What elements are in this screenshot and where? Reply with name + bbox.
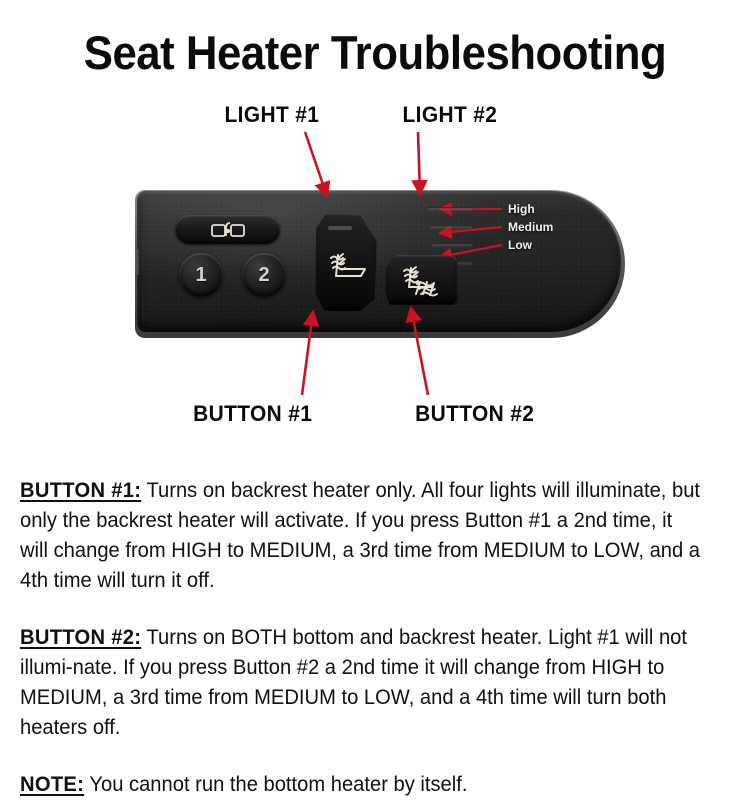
preset-button-2[interactable]: 2 [242,253,286,297]
level-label-high: High [508,202,535,216]
indicator-light-1 [427,207,473,212]
instruction-button-2: BUTTON #2: Turns on BOTH bottom and back… [20,623,705,743]
leader-light-2 [418,132,420,194]
instruction-2-lead: BUTTON #2: [20,626,141,649]
page-title: Seat Heater Troubleshooting [26,28,724,77]
leader-light-1 [305,132,327,196]
panel-face: 1 2 [137,191,621,332]
seat-control-panel: 1 2 [135,190,625,338]
indicator-light-3 [431,243,473,248]
preset-button-2-label: 2 [242,253,286,297]
instructions-block: BUTTON #1: Turns on backrest heater only… [20,455,705,800]
instruction-3-lead: NOTE: [20,773,84,796]
instruction-3-copy: You cannot run the bottom heater by itse… [84,773,467,796]
callout-light-2: LIGHT #2 [402,102,497,128]
button-1-highlight-notch [328,226,352,230]
callout-button-1: BUTTON #1 [193,401,312,427]
heater-button-1[interactable] [315,213,377,311]
instruction-button-1: BUTTON #1: Turns on backrest heater only… [20,476,705,596]
heater-button-2[interactable] [385,255,458,305]
seat-heater-diagram: LIGHT #1 LIGHT #2 BUTTON #1 BUTTON #2 [0,90,750,440]
level-label-low: Low [508,238,532,252]
instruction-1-lead: BUTTON #1: [20,479,141,502]
callout-light-1: LIGHT #1 [224,102,319,128]
memory-set-button[interactable] [175,215,280,244]
indicator-light-2 [429,225,473,230]
callout-button-2: BUTTON #2 [415,401,534,427]
preset-button-1-label: 1 [179,253,223,297]
level-label-medium: Medium [508,220,553,234]
page-root: Seat Heater Troubleshooting LIGHT #1 LIG… [0,0,750,750]
instruction-note: NOTE: You cannot run the bottom heater b… [20,770,705,800]
preset-button-1[interactable]: 1 [179,253,223,297]
panel-side-tab [137,249,139,275]
